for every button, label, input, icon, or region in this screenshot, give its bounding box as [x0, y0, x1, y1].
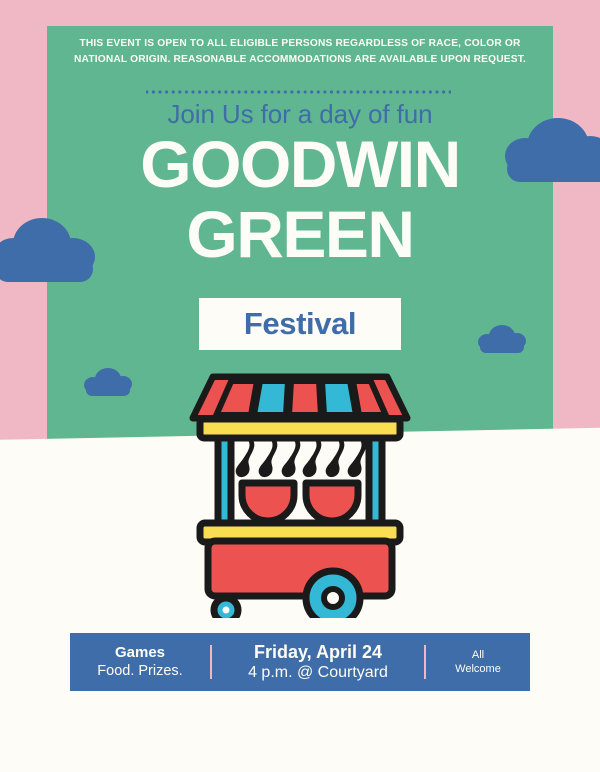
steam-icon — [236, 438, 367, 478]
audience-line-2: Welcome — [426, 662, 530, 676]
bowl-right — [306, 483, 358, 521]
activities-line-2: Food. Prizes. — [70, 662, 210, 680]
info-activities: Games Food. Prizes. — [70, 644, 210, 680]
poster-footer: Student Affairs UNIVERSITY OF ILLINOIS U… — [0, 700, 600, 772]
food-cart-illustration — [175, 363, 425, 618]
activities-line-1: Games — [70, 644, 210, 662]
info-datetime: Friday, April 24 4 p.m. @ Courtyard — [212, 642, 424, 683]
cart-body — [208, 541, 392, 596]
info-audience: All Welcome — [426, 648, 530, 676]
event-details-bar: Games Food. Prizes. Friday, April 24 4 p… — [70, 633, 530, 691]
page-title-line-1: GOODWIN — [0, 131, 600, 197]
festival-ribbon-label: Festival — [199, 298, 401, 350]
cloud-icon-small-right — [478, 325, 526, 355]
accessibility-disclaimer: THIS EVENT IS OPEN TO ALL ELIGIBLE PERSO… — [60, 36, 540, 67]
poster-kicker: Join Us for a day of fun — [0, 99, 600, 129]
cart-post-left — [218, 438, 231, 526]
cloud-icon-small-left — [84, 368, 132, 398]
audience-line-1: All — [426, 648, 530, 662]
main-wheel-hub — [324, 589, 342, 607]
awning-stripes — [215, 381, 391, 415]
caster-hub — [223, 607, 230, 614]
cart-post-right — [369, 438, 382, 526]
page-title-line-2: GREEN — [0, 201, 600, 267]
event-date: Friday, April 24 — [212, 642, 424, 663]
bowl-left — [242, 483, 294, 521]
event-poster: THIS EVENT IS OPEN TO ALL ELIGIBLE PERSO… — [0, 0, 600, 772]
dotted-divider — [146, 90, 451, 94]
event-time-location: 4 p.m. @ Courtyard — [212, 663, 424, 683]
